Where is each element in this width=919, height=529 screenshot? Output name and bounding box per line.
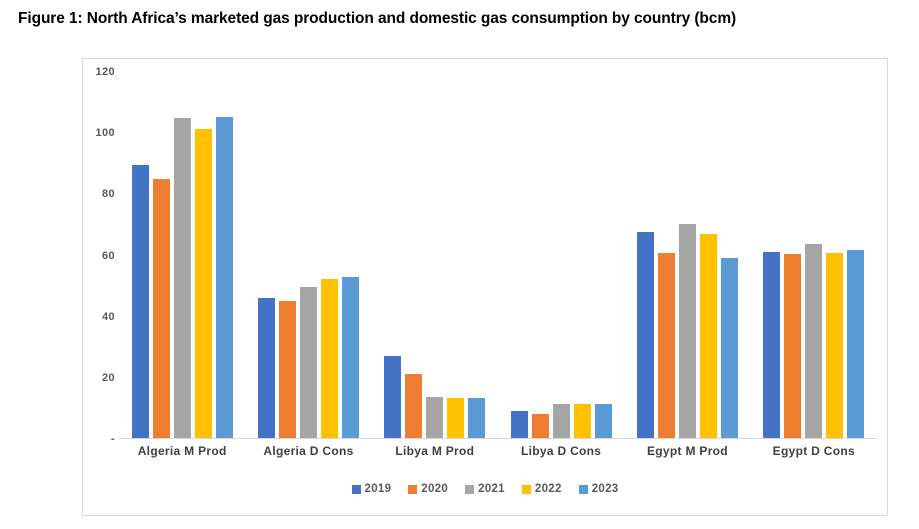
bar-2020-libya-d-cons[interactable] (532, 414, 549, 438)
bar-2021-libya-d-cons[interactable] (553, 404, 570, 438)
bar-2019-algeria-m-prod[interactable] (132, 165, 149, 438)
bar-2022-libya-d-cons[interactable] (574, 404, 591, 438)
chart-legend: 20192020202120222023 (83, 483, 887, 495)
bar-2022-egypt-m-prod[interactable] (700, 234, 717, 438)
legend-swatch-icon (579, 485, 588, 494)
bar-2019-egypt-m-prod[interactable] (637, 232, 654, 438)
bar-2023-algeria-m-prod[interactable] (216, 117, 233, 438)
bar-2022-egypt-d-cons[interactable] (826, 253, 843, 438)
legend-label: 2022 (535, 483, 562, 495)
bar-2020-algeria-m-prod[interactable] (153, 179, 170, 438)
legend-item-2020[interactable]: 2020 (408, 483, 448, 495)
y-axis-tick-label: - (111, 433, 115, 445)
x-axis-labels: Algeria M ProdAlgeria D ConsLibya M Prod… (119, 444, 877, 458)
y-axis-tick-label: 120 (95, 66, 115, 78)
x-axis-label: Egypt D Cons (751, 444, 877, 458)
y-axis-tick-label: 80 (102, 188, 115, 200)
bar-group (624, 72, 750, 438)
bar-2020-egypt-d-cons[interactable] (784, 254, 801, 438)
bar-2023-egypt-m-prod[interactable] (721, 258, 738, 438)
bar-2023-libya-d-cons[interactable] (595, 404, 612, 438)
x-axis-line (119, 438, 877, 439)
y-axis-tick-label: 40 (102, 311, 115, 323)
bar-groups (119, 72, 877, 438)
x-axis-label: Libya D Cons (498, 444, 624, 458)
bar-2022-libya-m-prod[interactable] (447, 398, 464, 438)
legend-label: 2019 (365, 483, 392, 495)
legend-item-2021[interactable]: 2021 (465, 483, 505, 495)
bar-2019-libya-d-cons[interactable] (511, 411, 528, 438)
y-axis-tick-label: 100 (95, 127, 115, 139)
bar-group (372, 72, 498, 438)
bar-2023-algeria-d-cons[interactable] (342, 277, 359, 438)
figure-title: Figure 1: North Africa’s marketed gas pr… (18, 8, 902, 30)
legend-label: 2023 (592, 483, 619, 495)
legend-label: 2020 (421, 483, 448, 495)
bar-2021-egypt-d-cons[interactable] (805, 244, 822, 438)
x-axis-label: Libya M Prod (372, 444, 498, 458)
legend-item-2019[interactable]: 2019 (352, 483, 392, 495)
bar-group (498, 72, 624, 438)
bar-2021-egypt-m-prod[interactable] (679, 224, 696, 438)
x-axis-label: Algeria D Cons (245, 444, 371, 458)
legend-swatch-icon (352, 485, 361, 494)
x-axis-label: Egypt M Prod (624, 444, 750, 458)
bar-2023-libya-m-prod[interactable] (468, 398, 485, 438)
legend-swatch-icon (408, 485, 417, 494)
chart-container: -20406080100120 Algeria M ProdAlgeria D … (82, 58, 888, 516)
bar-2021-algeria-d-cons[interactable] (300, 287, 317, 438)
bar-2020-egypt-m-prod[interactable] (658, 253, 675, 438)
y-axis: -20406080100120 (83, 72, 117, 439)
x-axis-label: Algeria M Prod (119, 444, 245, 458)
bar-2019-algeria-d-cons[interactable] (258, 298, 275, 438)
bar-group (119, 72, 245, 438)
bar-2020-libya-m-prod[interactable] (405, 374, 422, 438)
bar-2021-libya-m-prod[interactable] (426, 397, 443, 438)
legend-swatch-icon (465, 485, 474, 494)
bar-2022-algeria-d-cons[interactable] (321, 279, 338, 438)
legend-swatch-icon (522, 485, 531, 494)
legend-item-2023[interactable]: 2023 (579, 483, 619, 495)
bar-2020-algeria-d-cons[interactable] (279, 301, 296, 438)
bar-2019-egypt-d-cons[interactable] (763, 252, 780, 438)
bar-group (751, 72, 877, 438)
bar-2022-algeria-m-prod[interactable] (195, 129, 212, 438)
y-axis-tick-label: 60 (102, 250, 115, 262)
bar-group (245, 72, 371, 438)
plot-area (119, 72, 877, 439)
bar-2023-egypt-d-cons[interactable] (847, 250, 864, 438)
bar-2019-libya-m-prod[interactable] (384, 356, 401, 438)
legend-item-2022[interactable]: 2022 (522, 483, 562, 495)
bar-2021-algeria-m-prod[interactable] (174, 118, 191, 438)
y-axis-tick-label: 20 (102, 372, 115, 384)
legend-label: 2021 (478, 483, 505, 495)
